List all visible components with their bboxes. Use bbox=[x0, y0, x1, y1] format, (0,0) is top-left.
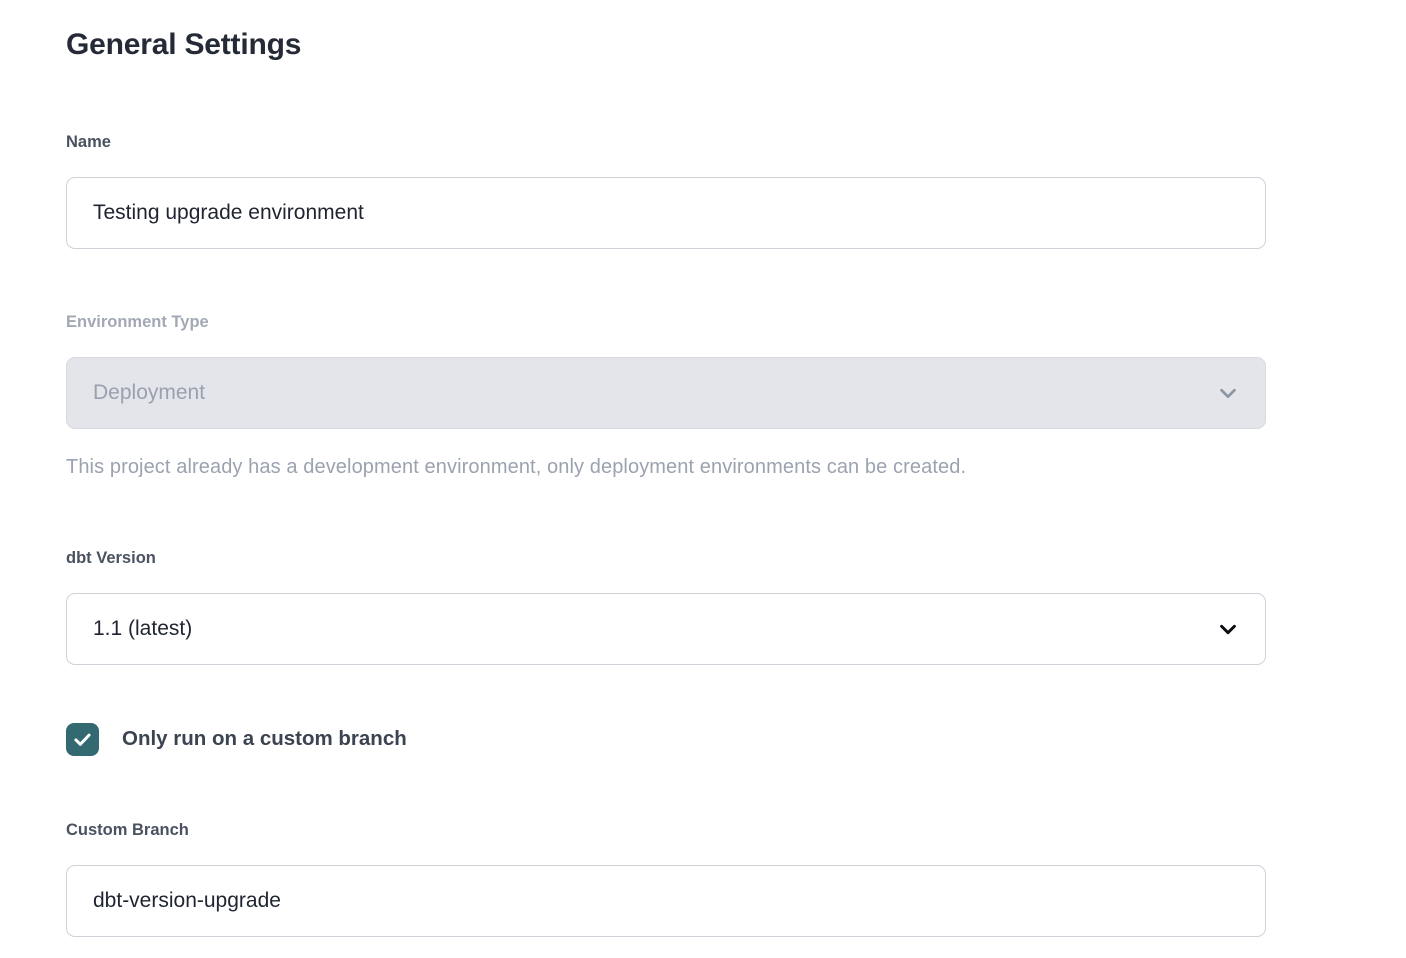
only-run-on-custom-branch-checkbox[interactable] bbox=[66, 723, 99, 756]
chevron-down-icon bbox=[1217, 382, 1239, 404]
custom-branch-input-value: dbt-version-upgrade bbox=[93, 888, 281, 914]
environment-type-help-text: This project already has a development e… bbox=[66, 454, 966, 480]
environment-type-value: Deployment bbox=[93, 380, 205, 406]
general-settings-page: General Settings Name Testing upgrade en… bbox=[0, 0, 1406, 958]
only-run-on-custom-branch-row[interactable]: Only run on a custom branch bbox=[66, 722, 407, 756]
custom-branch-input[interactable]: dbt-version-upgrade bbox=[66, 865, 1266, 937]
dbt-version-value: 1.1 (latest) bbox=[93, 616, 192, 642]
environment-type-label: Environment Type bbox=[66, 311, 209, 333]
dbt-version-label: dbt Version bbox=[66, 547, 156, 569]
name-label: Name bbox=[66, 131, 111, 153]
environment-type-select: Deployment bbox=[66, 357, 1266, 429]
chevron-down-icon[interactable] bbox=[1217, 618, 1239, 640]
only-run-on-custom-branch-label: Only run on a custom branch bbox=[122, 726, 407, 752]
page-title: General Settings bbox=[66, 26, 301, 64]
name-input[interactable]: Testing upgrade environment bbox=[66, 177, 1266, 249]
dbt-version-select[interactable]: 1.1 (latest) bbox=[66, 593, 1266, 665]
name-input-value: Testing upgrade environment bbox=[93, 200, 364, 226]
check-icon bbox=[72, 729, 93, 750]
custom-branch-label: Custom Branch bbox=[66, 819, 189, 841]
